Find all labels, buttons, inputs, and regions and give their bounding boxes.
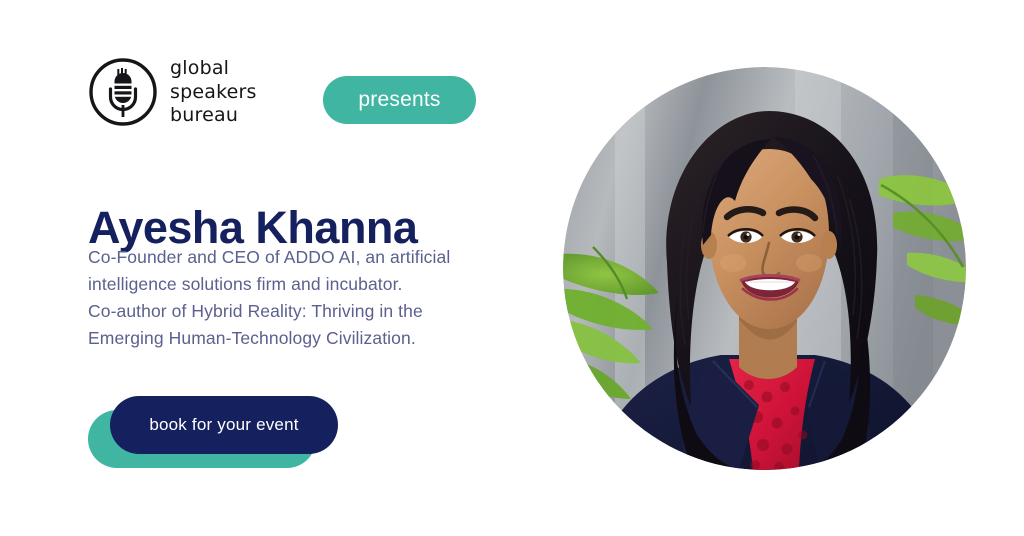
brand-wordmark-line-3: bureau xyxy=(170,104,257,128)
brand-wordmark-line-2: speakers xyxy=(170,81,257,105)
speaker-portrait xyxy=(563,67,966,470)
bio-line: Emerging Human-Technology Civilization. xyxy=(88,325,498,352)
left-content-column: global speakers bureau presents Ayesha K… xyxy=(0,0,520,536)
bio-line: intelligence solutions firm and incubato… xyxy=(88,271,498,298)
book-cta-wrapper: book for your event xyxy=(88,396,338,468)
brand-wordmark: global speakers bureau xyxy=(170,57,257,128)
book-for-your-event-button[interactable]: book for your event xyxy=(110,396,338,454)
bio-line: Co-Founder and CEO of ADDO AI, an artifi… xyxy=(88,244,498,271)
brand-wordmark-line-1: global xyxy=(170,57,257,81)
speaker-bio: Co-Founder and CEO of ADDO AI, an artifi… xyxy=(88,244,498,352)
microphone-in-circle-icon xyxy=(88,57,158,127)
presents-badge: presents xyxy=(323,76,476,124)
bio-line: Co-author of Hybrid Reality: Thriving in… xyxy=(88,298,498,325)
brand-logo-lockup[interactable]: global speakers bureau xyxy=(88,57,257,128)
speaker-promo-card: global speakers bureau presents Ayesha K… xyxy=(0,0,1024,536)
